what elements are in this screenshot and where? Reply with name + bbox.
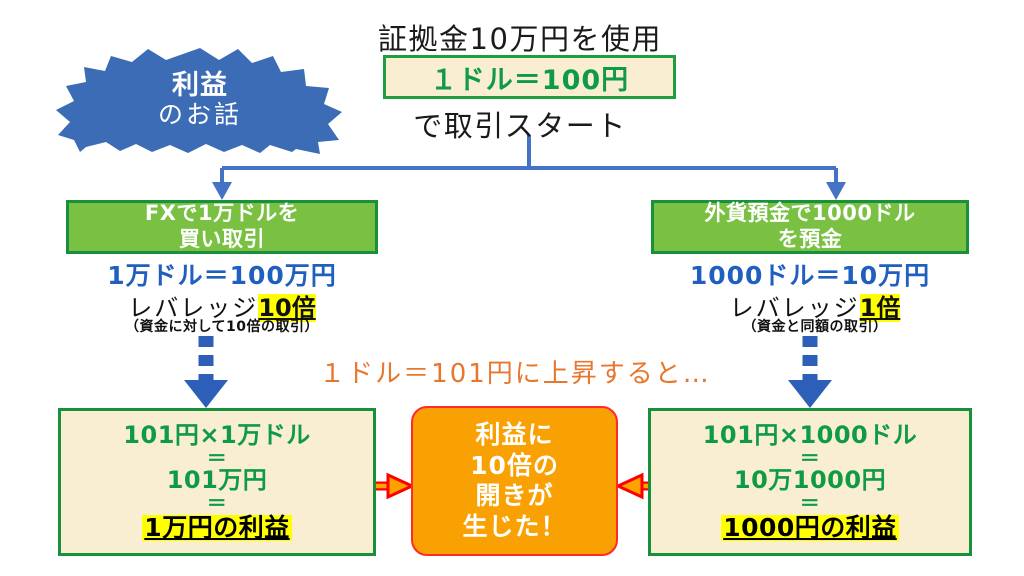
- callout-line-3: 開きが: [475, 481, 553, 512]
- page-title: 証拠金10万円を使用: [330, 16, 710, 58]
- start-trading-label: で取引スタート: [330, 103, 710, 145]
- branch-right-line-2: を預金: [705, 227, 916, 253]
- amount-right: 1000ドル＝10万円: [645, 256, 975, 292]
- dashed-down-arrow-icon-right: [788, 336, 832, 408]
- branch-left-line-1: FXで1万ドルを: [145, 201, 299, 227]
- result-right-profit: 1000円の利益: [721, 515, 899, 541]
- branch-box-deposit: 外貨預金で1000ドル を預金: [651, 200, 969, 254]
- result-right-line-1: 101円×1000ドル: [703, 423, 918, 448]
- result-left-profit: 1万円の利益: [142, 515, 291, 541]
- rate-rise-note: １ドル＝101円に上昇すると…: [250, 353, 780, 390]
- dashed-down-arrow-icon-left: [184, 336, 228, 408]
- callout-line-4: 生じた！: [462, 512, 566, 543]
- split-arrowhead-right: [826, 182, 846, 200]
- branch-right-line-1: 外貨預金で1000ドル: [705, 201, 916, 227]
- leverage-left-note: （資金に対して10倍の取引）: [60, 316, 384, 336]
- split-arrowhead-left: [212, 182, 232, 200]
- result-right-eq-1: ＝: [800, 448, 821, 468]
- diagram-canvas: 証拠金10万円を使用 １ドル＝100円 で取引スタート 利益 のお話 FXで1万…: [0, 0, 1024, 576]
- result-box-deposit: 101円×1000ドル ＝ 10万1000円 ＝ 1000円の利益: [648, 408, 972, 556]
- leverage-right-note: （資金と同額の取引）: [650, 316, 980, 336]
- callout-line-2: 10倍の: [470, 451, 559, 482]
- amount-left: 1万ドル＝100万円: [66, 256, 378, 292]
- branch-box-fx: FXで1万ドルを 買い取引: [66, 200, 378, 254]
- starburst-icon: [56, 46, 344, 154]
- comparison-callout: 利益に 10倍の 開きが 生じた！: [411, 406, 618, 556]
- result-right-line-2: 10万1000円: [734, 468, 886, 493]
- result-left-eq-1: ＝: [207, 448, 228, 468]
- rate-box: １ドル＝100円: [383, 55, 676, 99]
- callout-line-1: 利益に: [475, 420, 553, 451]
- branch-left-line-2: 買い取引: [145, 227, 299, 253]
- result-left-line-2: 101万円: [167, 468, 268, 493]
- profit-story-badge: 利益 のお話: [56, 46, 344, 154]
- result-left-line-1: 101円×1万ドル: [123, 423, 310, 448]
- result-right-eq-2: ＝: [800, 493, 821, 513]
- result-box-fx: 101円×1万ドル ＝ 101万円 ＝ 1万円の利益: [58, 408, 376, 556]
- result-left-eq-2: ＝: [207, 493, 228, 513]
